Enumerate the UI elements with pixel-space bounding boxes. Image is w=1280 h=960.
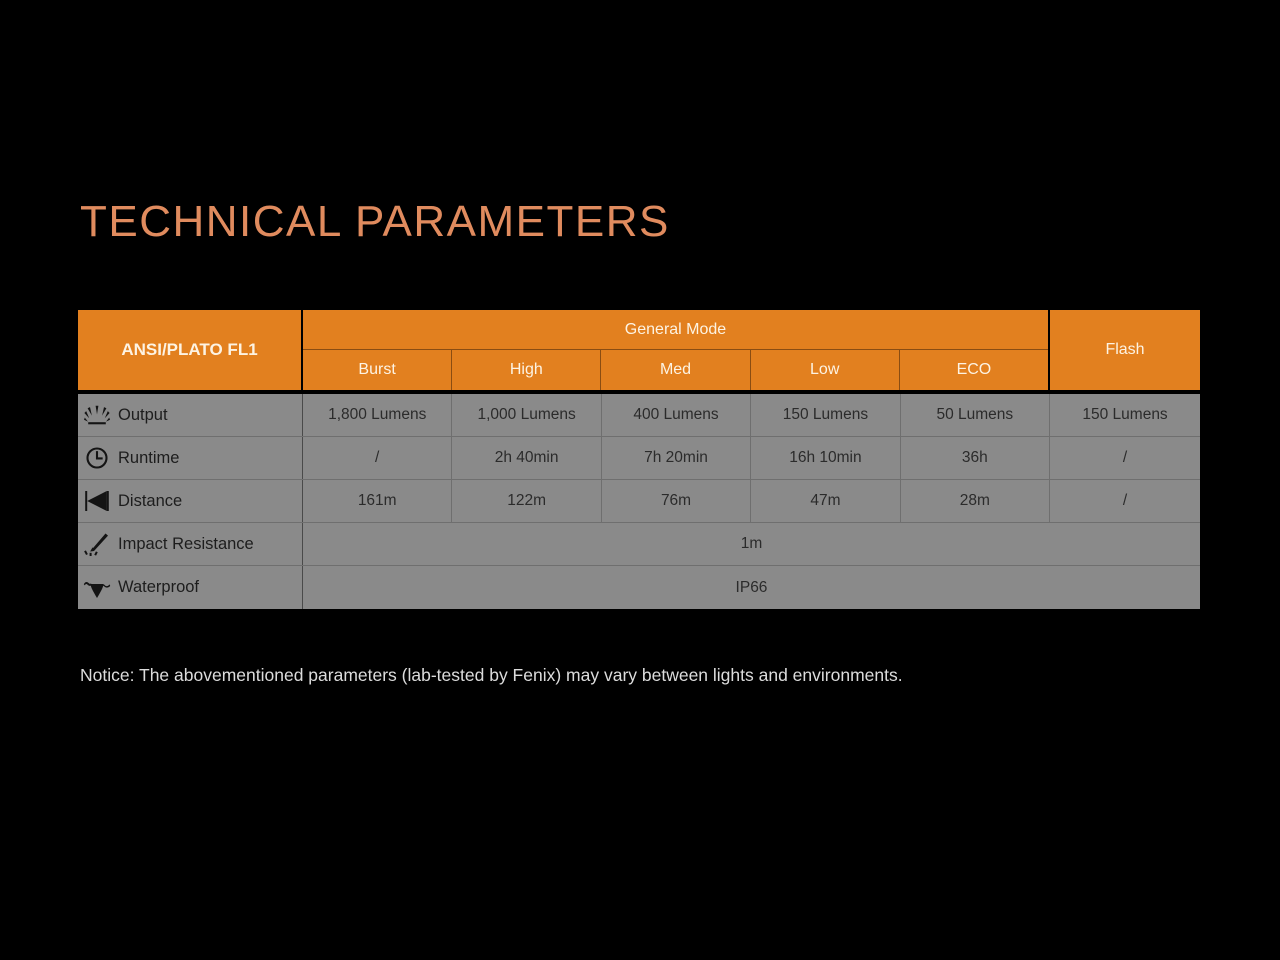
header-general-mode-label: General Mode xyxy=(303,310,1048,350)
row-label-impact-resistance: Impact Resistance xyxy=(78,523,303,565)
header-ansi-plato-fl1: ANSI/PLATO FL1 xyxy=(78,310,303,390)
cell-distance-eco: 28m xyxy=(901,480,1050,522)
table-row: Runtime / 2h 40min 7h 20min 16h 10min 36… xyxy=(78,437,1200,480)
table-row: Impact Resistance 1m xyxy=(78,523,1200,566)
cell-distance-high: 122m xyxy=(452,480,601,522)
cell-runtime-flash: / xyxy=(1050,437,1200,479)
header-mode-flash: Flash xyxy=(1050,310,1200,390)
header-mode-subrow: Burst High Med Low ECO xyxy=(303,350,1048,390)
waterdrop-icon xyxy=(82,575,112,601)
sun-burst-icon xyxy=(82,402,112,428)
cell-impact-resistance-value: 1m xyxy=(303,523,1200,565)
cell-output-eco: 50 Lumens xyxy=(901,394,1050,436)
row-label-runtime: Runtime xyxy=(78,437,303,479)
cell-output-high: 1,000 Lumens xyxy=(452,394,601,436)
cell-output-low: 150 Lumens xyxy=(751,394,900,436)
beam-distance-icon xyxy=(82,488,112,514)
cell-waterproof-value: IP66 xyxy=(303,566,1200,609)
page-title: TECHNICAL PARAMETERS xyxy=(80,200,670,244)
header-mode-med: Med xyxy=(601,350,750,390)
cell-distance-burst: 161m xyxy=(303,480,452,522)
header-mode-burst: Burst xyxy=(303,350,452,390)
header-mode-high: High xyxy=(452,350,601,390)
clock-icon xyxy=(82,445,112,471)
table-header: ANSI/PLATO FL1 General Mode Burst High M… xyxy=(78,310,1200,390)
row-label-text: Waterproof xyxy=(118,578,199,597)
cell-runtime-burst: / xyxy=(303,437,452,479)
cell-runtime-low: 16h 10min xyxy=(751,437,900,479)
header-mode-eco: ECO xyxy=(900,350,1048,390)
cell-distance-med: 76m xyxy=(602,480,751,522)
row-label-distance: Distance xyxy=(78,480,303,522)
table-row: Output 1,800 Lumens 1,000 Lumens 400 Lum… xyxy=(78,394,1200,437)
cell-runtime-med: 7h 20min xyxy=(602,437,751,479)
cell-runtime-eco: 36h xyxy=(901,437,1050,479)
row-label-waterproof: Waterproof xyxy=(78,566,303,609)
technical-parameters-table: ANSI/PLATO FL1 General Mode Burst High M… xyxy=(78,310,1200,609)
row-label-text: Output xyxy=(118,406,168,425)
cell-output-burst: 1,800 Lumens xyxy=(303,394,452,436)
cell-distance-low: 47m xyxy=(751,480,900,522)
table-body: Output 1,800 Lumens 1,000 Lumens 400 Lum… xyxy=(78,394,1200,609)
table-row: Distance 161m 122m 76m 47m 28m / xyxy=(78,480,1200,523)
cell-output-flash: 150 Lumens xyxy=(1050,394,1200,436)
table-row: Waterproof IP66 xyxy=(78,566,1200,609)
row-label-output: Output xyxy=(78,394,303,436)
impact-hammer-icon xyxy=(82,531,112,557)
notice-text: Notice: The abovementioned parameters (l… xyxy=(80,665,903,686)
cell-output-med: 400 Lumens xyxy=(602,394,751,436)
header-mode-low: Low xyxy=(751,350,900,390)
cell-distance-flash: / xyxy=(1050,480,1200,522)
row-label-text: Distance xyxy=(118,492,182,511)
row-label-text: Impact Resistance xyxy=(118,535,254,554)
cell-runtime-high: 2h 40min xyxy=(452,437,601,479)
row-label-text: Runtime xyxy=(118,449,179,468)
header-general-mode-group: General Mode Burst High Med Low ECO xyxy=(303,310,1050,390)
